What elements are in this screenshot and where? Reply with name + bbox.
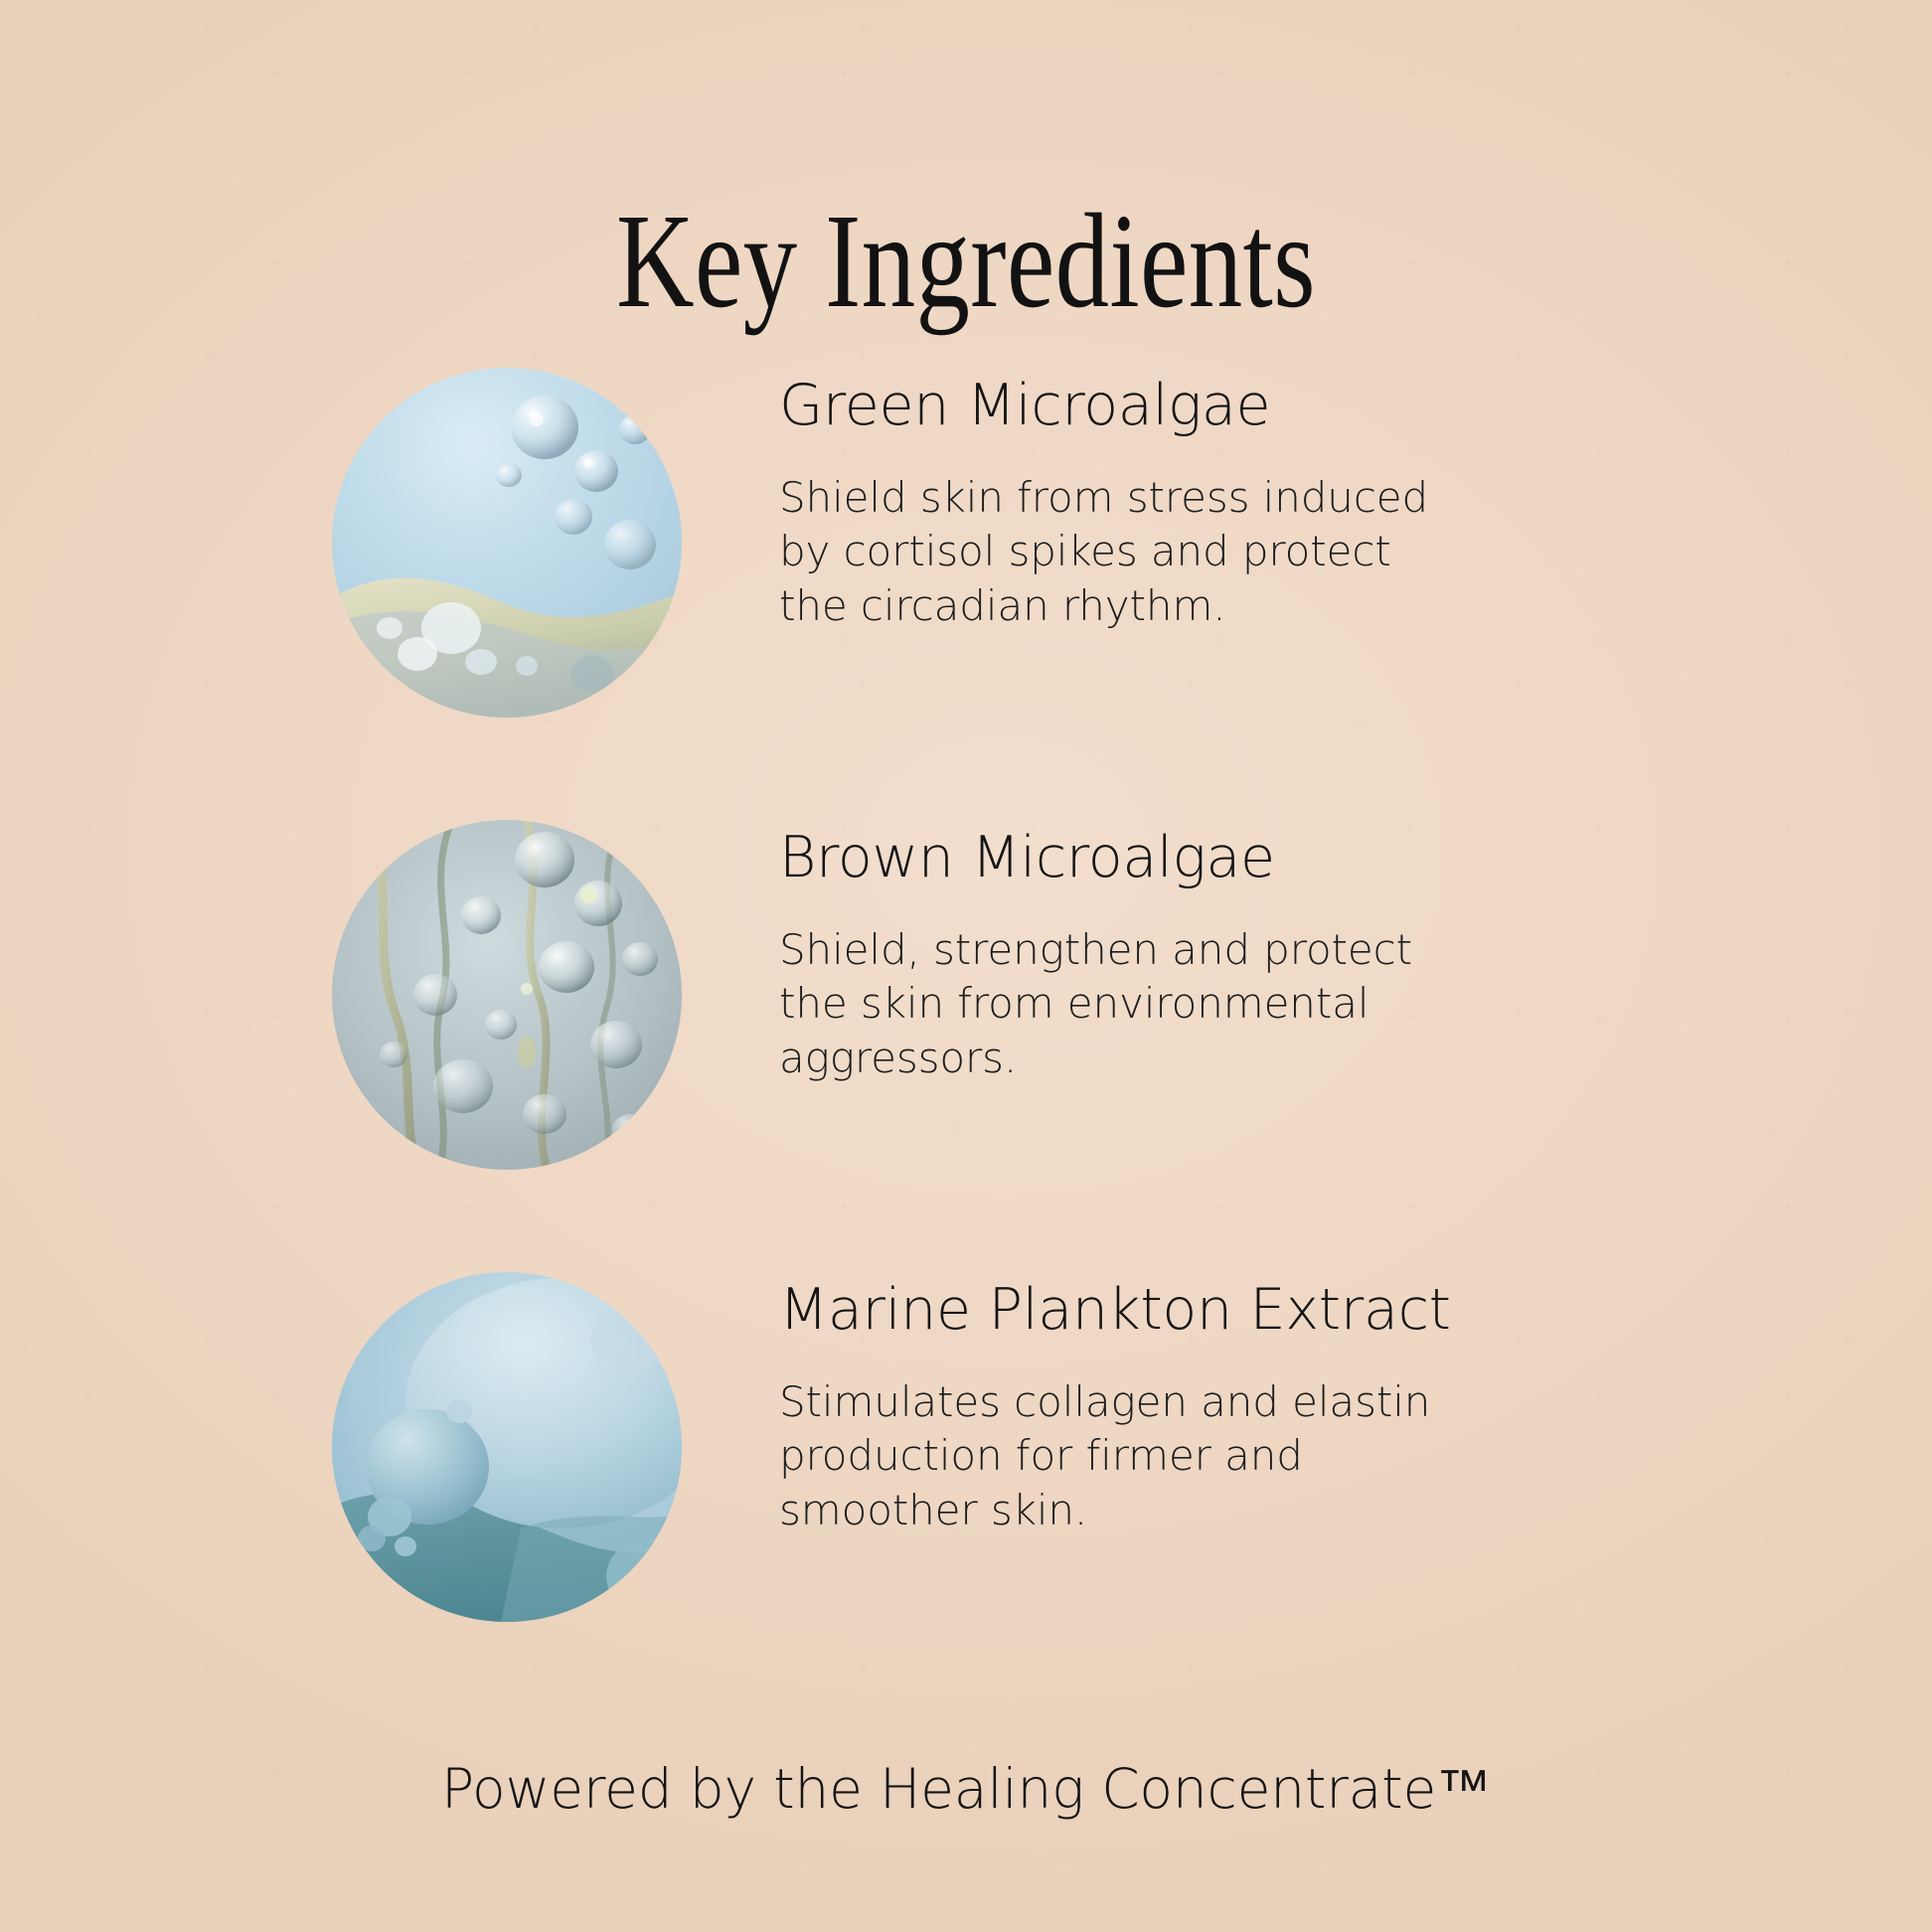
ingredient-description: Shield skin from stress induced by corti…: [779, 471, 1534, 634]
ingredient-list: Green Microalgae Shield skin from stress…: [0, 358, 1932, 1714]
ingredient-row-green-microalgae: Green Microalgae Shield skin from stress…: [0, 358, 1932, 810]
ingredient-name: Marine Plankton Extract: [779, 1280, 1534, 1342]
ingredient-text-green-microalgae: Green Microalgae Shield skin from stress…: [682, 358, 1534, 633]
ingredient-name: Green Microalgae: [779, 376, 1534, 437]
ingredient-description: Stimulates collagen and elastin producti…: [779, 1375, 1534, 1538]
ingredient-description: Shield, strengthen and protect the skin …: [779, 923, 1534, 1086]
ingredient-name: Brown Microalgae: [779, 828, 1534, 889]
page-title: Key Ingredients: [193, 186, 1738, 337]
ingredient-text-brown-microalgae: Brown Microalgae Shield, strengthen and …: [682, 810, 1534, 1085]
ingredient-row-brown-microalgae: Brown Microalgae Shield, strengthen and …: [0, 810, 1932, 1262]
footer-tagline: Powered by the Healing Concentrate™: [0, 1757, 1932, 1821]
ingredient-row-marine-plankton-extract: Marine Plankton Extract Stimulates colla…: [0, 1262, 1932, 1714]
ingredient-text-marine-plankton-extract: Marine Plankton Extract Stimulates colla…: [682, 1262, 1534, 1537]
green-microalgae-texture-photo: [332, 368, 682, 718]
brown-microalgae-texture-photo: [332, 820, 682, 1170]
marine-plankton-extract-texture-photo: [332, 1272, 682, 1622]
key-ingredients-infographic: Key Ingredients: [0, 0, 1932, 1932]
